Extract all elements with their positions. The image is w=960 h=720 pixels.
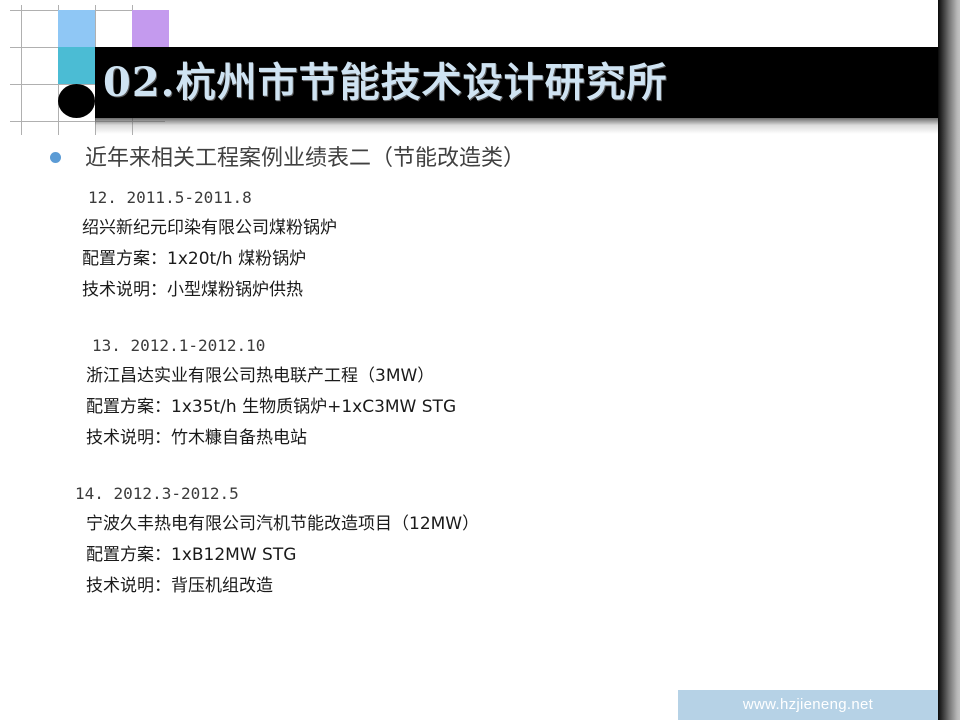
entry-tech: 技术说明：竹木糠自备热电站 bbox=[0, 423, 938, 448]
slide: 02.杭州市节能技术设计研究所 近年来相关工程案例业绩表二（节能改造类） 12.… bbox=[0, 0, 960, 720]
entry-project: 绍兴新纪元印染有限公司煤粉锅炉 bbox=[0, 213, 938, 238]
decorative-circle bbox=[58, 84, 95, 118]
list-item: 14. 2012.3-2012.5 宁波久丰热电有限公司汽机节能改造项目（12M… bbox=[0, 484, 938, 596]
entry-config: 配置方案：1xB12MW STG bbox=[0, 540, 938, 565]
list-item: 12. 2011.5-2011.8 绍兴新纪元印染有限公司煤粉锅炉 配置方案：1… bbox=[0, 188, 938, 300]
entry-config: 配置方案：1x35t/h 生物质锅炉+1xC3MW STG bbox=[0, 392, 938, 417]
headline-text: 近年来相关工程案例业绩表二（节能改造类） bbox=[85, 140, 525, 172]
slide-body: 近年来相关工程案例业绩表二（节能改造类） 12. 2011.5-2011.8 绍… bbox=[0, 140, 938, 596]
list-item: 13. 2012.1-2012.10 浙江昌达实业有限公司热电联产工程（3MW）… bbox=[0, 336, 938, 448]
decorative-square-light-blue bbox=[58, 10, 95, 47]
entry-project: 宁波久丰热电有限公司汽机节能改造项目（12MW） bbox=[0, 509, 938, 534]
decorative-square-violet bbox=[132, 10, 169, 47]
grid-line-vertical bbox=[21, 5, 22, 135]
entry-project: 浙江昌达实业有限公司热电联产工程（3MW） bbox=[0, 361, 938, 386]
footer-bar: www.hzjieneng.net bbox=[678, 690, 938, 720]
entry-tech: 技术说明：小型煤粉锅炉供热 bbox=[0, 275, 938, 300]
page-title: 02.杭州市节能技术设计研究所 bbox=[103, 52, 668, 114]
headline-row: 近年来相关工程案例业绩表二（节能改造类） bbox=[0, 140, 938, 174]
entry-heading: 14. 2012.3-2012.5 bbox=[0, 484, 938, 503]
footer-url[interactable]: www.hzjieneng.net bbox=[678, 690, 938, 720]
bullet-icon bbox=[50, 152, 61, 163]
decorative-square-teal bbox=[58, 47, 95, 84]
entry-config: 配置方案：1x20t/h 煤粉锅炉 bbox=[0, 244, 938, 269]
entry-heading: 13. 2012.1-2012.10 bbox=[0, 336, 938, 355]
entry-tech: 技术说明：背压机组改造 bbox=[0, 571, 938, 596]
slide-canvas: 02.杭州市节能技术设计研究所 近年来相关工程案例业绩表二（节能改造类） 12.… bbox=[0, 0, 938, 720]
title-bar-shadow bbox=[95, 118, 938, 134]
entry-heading: 12. 2011.5-2011.8 bbox=[0, 188, 938, 207]
slide-right-edge-shadow bbox=[938, 0, 960, 720]
